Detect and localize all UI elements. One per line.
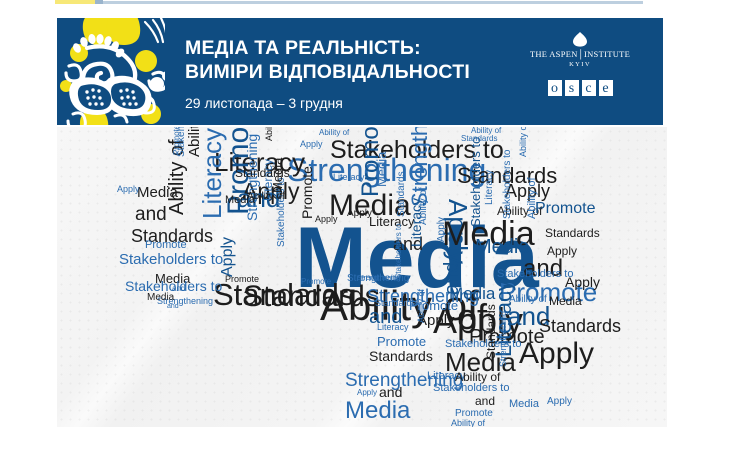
wordcloud-word: Media (549, 295, 582, 307)
osce-letter-s: s (564, 79, 580, 97)
osce-letter-c: c (581, 79, 597, 97)
wordcloud-word: and (135, 205, 167, 224)
wordcloud-word: Stakeholders to (119, 252, 223, 267)
wordcloud-word: Ability of (265, 127, 274, 141)
wordcloud-word: Literacy (485, 170, 495, 205)
osce-logo: o s c e (521, 79, 639, 97)
wordcloud-word: Standards (485, 304, 497, 359)
wordcloud-word: Standards (461, 135, 497, 143)
wordcloud-word: Apply (315, 215, 338, 224)
wordcloud-word: and (475, 395, 495, 407)
wordcloud-word: Ability of (471, 127, 501, 135)
wordcloud-word: Promote (173, 127, 181, 155)
wordcloud-word: Standards (375, 299, 416, 308)
wordcloud-word: Promote (145, 240, 187, 251)
wordcloud-word: and (167, 303, 179, 310)
wordcloud-word: Media (345, 399, 410, 423)
clipped-previous-banner-strip (0, 0, 736, 5)
wordcloud-word: Apply (357, 389, 377, 397)
wordcloud-word: Standards (235, 167, 290, 179)
wordcloud-word: Standards (397, 171, 407, 217)
aspen-city-label: KYIV (521, 60, 639, 70)
strip-blue-swatch (95, 0, 103, 4)
wordcloud-word: Literacy (333, 173, 365, 182)
wordcloud-word: Apply (437, 217, 447, 242)
wordcloud-word: Apply (347, 209, 372, 219)
wordcloud-word: Stakeholders to (503, 150, 513, 220)
osce-letter-o: o (547, 79, 563, 97)
wordcloud-panel: MediaAbility ofStrengtheningApplyStandar… (57, 127, 667, 427)
wordcloud-word: Apply (547, 245, 577, 257)
wordcloud-word: Ability of (519, 127, 528, 157)
wordcloud-word: Stakeholders to (125, 279, 222, 293)
wordcloud-word: Standards (243, 282, 380, 312)
wordcloud-word: Media (147, 293, 174, 303)
wordcloud-word: Stakeholders to (497, 269, 573, 280)
aspen-wordmark: THE ASPEN│INSTITUTE (521, 49, 639, 59)
strip-yellow-swatch (55, 0, 95, 4)
banner-text-block: МЕДІА ТА РЕАЛЬНІСТЬ: ВИМІРИ ВІДПОВІДАЛЬН… (185, 36, 565, 112)
wordcloud-word: Stakeholders to (395, 223, 403, 279)
wordcloud-word: Promote (377, 335, 426, 348)
wordcloud-word: Apply (565, 275, 600, 289)
wordcloud-word: Apply (300, 140, 323, 149)
wordcloud-word: Ability of (417, 289, 426, 323)
wordcloud-word: Media (509, 399, 539, 410)
wordcloud-word: Promote (300, 166, 314, 219)
banner-title: МЕДІА ТА РЕАЛЬНІСТЬ: ВИМІРИ ВІДПОВІДАЛЬН… (185, 36, 565, 84)
strip-divider-line (103, 1, 643, 4)
wordcloud-word: Apply (519, 339, 594, 369)
wordcloud-word: Media (137, 185, 178, 200)
petrykivka-folk-ornament-icon (57, 18, 175, 125)
partner-logos: THE ASPEN│INSTITUTE KYIV o s c e (521, 32, 639, 97)
wordcloud-word: Stakeholders to (433, 383, 509, 394)
wordcloud-word: Strengthening (499, 311, 508, 367)
wordcloud-word: Ability of (247, 192, 285, 202)
wordcloud-word: Apply (117, 185, 140, 194)
wordcloud-word: Standards (539, 317, 621, 335)
wordcloud-word: Literacy (377, 323, 409, 332)
wordcloud-word: Standards (545, 227, 600, 239)
aspen-institute-logo: THE ASPEN│INSTITUTE KYIV (521, 32, 639, 70)
osce-letter-e: e (598, 79, 614, 97)
wordcloud-word: Standards (369, 349, 433, 363)
wordcloud-word: Ability of (187, 127, 202, 157)
wordcloud-word: Ability of (419, 187, 429, 225)
wordcloud-word: Stakeholders to (469, 137, 482, 227)
wordcloud-word: Apply (220, 237, 236, 277)
wordcloud-word: Promote (535, 201, 595, 217)
wordcloud: MediaAbility ofStrengtheningApplyStandar… (57, 127, 667, 427)
wordcloud-word: Apply (547, 397, 572, 407)
wordcloud-word: Media (375, 152, 388, 187)
event-banner: МЕДІА ТА РЕАЛЬНІСТЬ: ВИМІРИ ВІДПОВІДАЛЬН… (57, 18, 663, 125)
wordcloud-word: Ability of (319, 129, 349, 137)
aspen-leaf-icon (572, 32, 588, 47)
wordcloud-word: and (442, 262, 462, 295)
wordcloud-word: Media (475, 237, 529, 257)
banner-date: 29 листопада – 3 грудня (185, 95, 565, 112)
wordcloud-word: Promote (301, 278, 331, 286)
